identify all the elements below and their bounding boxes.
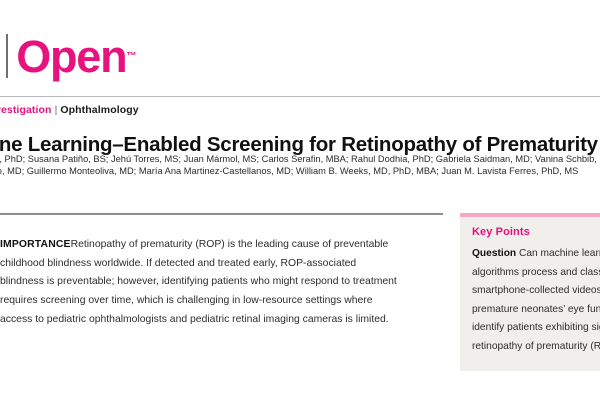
logo-open-text: Open [16,31,126,82]
article-type-link[interactable]: Original Investigation [0,104,52,116]
abstract-label: IMPORTANCE [0,239,71,250]
trademark-icon: ™ [126,51,136,62]
journal-masthead[interactable]: JAMA Network Open™ [0,28,136,84]
article-page: JAMA Network Open™ Original Investigatio… [0,0,600,403]
key-points-heading: Key Points [472,226,600,238]
key-points-question-label: Question [472,248,516,259]
key-points-box: Key Points Question Can machine learning… [460,213,600,371]
article-kicker: Original Investigation|Ophthalmology [0,104,139,116]
author-list-line[interactable]: Celina Lomuto, MD; Guillermo Monteoliva,… [0,166,600,178]
masthead-divider [0,96,600,97]
abstract-section: IMPORTANCERetinopathy of prematurity (RO… [0,236,400,330]
journal-open-logo[interactable]: Open™ [8,34,136,79]
author-list-line[interactable]: Emiliano Díaz, PhD; Susana Patiño, BS; J… [0,154,600,166]
abstract-text: Retinopathy of prematurity (ROP) is the … [0,239,397,325]
key-points-question-text: Can machine learning algorithms process … [472,248,600,352]
abstract-divider [0,213,443,215]
author-list: Emiliano Díaz, PhD; Susana Patiño, BS; J… [0,154,600,177]
article-topic-link[interactable]: Ophthalmology [60,104,138,116]
key-points-question: Question Can machine learning algorithms… [472,245,600,357]
